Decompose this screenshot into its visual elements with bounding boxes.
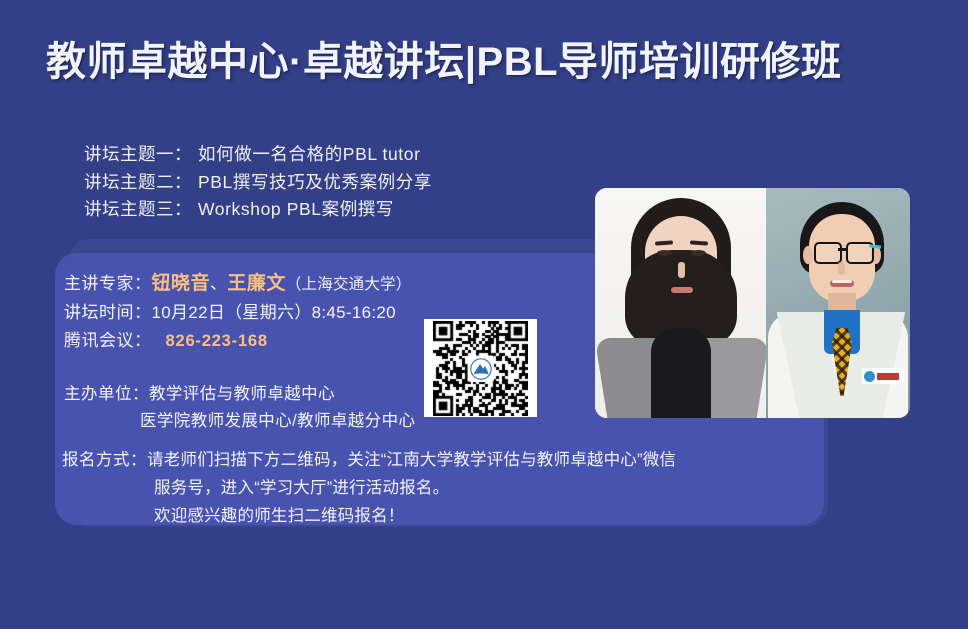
mouth-shape	[671, 287, 693, 293]
meeting-id: 826-223-168	[166, 332, 268, 350]
title-bar: 教师卓越中心·卓越讲坛|PBL导师培训研修班	[0, 33, 968, 93]
registration-block: 报名方式：请老师们扫描下方二维码，关注“江南大学教学评估与教师卓越中心”微信 服…	[62, 446, 822, 530]
nose-shape	[678, 262, 685, 278]
speaker-row: 主讲专家：钮晓音、王廉文（上海交通大学）	[64, 270, 584, 299]
ear-left	[803, 246, 813, 264]
topic-list: 讲坛主题一：如何做一名合格的PBL tutor 讲坛主题二：PBL撰写技巧及优秀…	[84, 141, 554, 224]
glasses-left-lens	[814, 242, 842, 264]
speaker-separator: 、	[210, 274, 227, 293]
registration-row-3: 欢迎感兴趣的师生扫二维码报名！	[62, 502, 822, 530]
registration-line-2: 服务号，进入“学习大厅”进行活动报名。	[154, 479, 449, 497]
eye-right	[691, 250, 706, 256]
speaker-photos	[595, 188, 910, 418]
time-label: 讲坛时间：	[64, 303, 152, 322]
organizer-line-1: 教学评估与教师卓越中心	[149, 385, 335, 403]
topic-text-3: Workshop PBL案例撰写	[198, 199, 394, 219]
list-item: 讲坛主题三：Workshop PBL案例撰写	[84, 196, 554, 224]
organizer-label: 主办单位：	[64, 385, 149, 403]
topic-label-1: 讲坛主题一：	[84, 144, 192, 164]
page-title: 教师卓越中心·卓越讲坛|PBL导师培训研修班	[46, 33, 842, 91]
organizer-line-2: 医学院教师发展中心/教师卓越分中心	[140, 412, 415, 430]
time-value: 10月22日（星期六）8:45-16:20	[152, 303, 396, 322]
speaker-label: 主讲专家：	[64, 274, 152, 293]
hospital-badge	[862, 368, 904, 384]
speaker-name-1: 钮晓音	[152, 273, 211, 294]
list-item: 讲坛主题一：如何做一名合格的PBL tutor	[84, 141, 554, 169]
meeting-label: 腾讯会议：	[64, 331, 152, 350]
teeth-shape	[832, 280, 852, 283]
registration-label: 报名方式：	[62, 451, 147, 469]
topic-text-2: PBL撰写技巧及优秀案例分享	[198, 172, 432, 192]
qr-code[interactable]	[424, 319, 537, 417]
topic-text-1: 如何做一名合格的PBL tutor	[198, 144, 421, 164]
badge-text	[877, 373, 899, 380]
list-item: 讲坛主题二：PBL撰写技巧及优秀案例分享	[84, 169, 554, 197]
glasses-bridge	[838, 248, 846, 251]
turtleneck-shape	[651, 328, 711, 418]
mountain-logo-icon	[468, 356, 494, 382]
portrait-photo-left	[595, 188, 766, 418]
registration-row-1: 报名方式：请老师们扫描下方二维码，关注“江南大学教学评估与教师卓越中心”微信	[62, 446, 822, 474]
registration-line-1: 请老师们扫描下方二维码，关注“江南大学教学评估与教师卓越中心”微信	[147, 451, 676, 469]
badge-logo-icon	[864, 371, 875, 382]
poster-root: 教师卓越中心·卓越讲坛|PBL导师培训研修班 讲坛主题一：如何做一名合格的PBL…	[0, 0, 968, 629]
nose-shape	[838, 262, 845, 275]
topic-label-3: 讲坛主题三：	[84, 199, 192, 219]
registration-line-3: 欢迎感兴趣的师生扫二维码报名！	[154, 507, 405, 525]
speaker-name-2: 王廉文	[227, 273, 286, 294]
topic-label-2: 讲坛主题二：	[84, 172, 192, 192]
portrait-photo-right	[766, 188, 910, 418]
registration-row-2: 服务号，进入“学习大厅”进行活动报名。	[62, 474, 822, 502]
eye-left	[657, 250, 672, 256]
speaker-affiliation: （上海交通大学）	[286, 276, 412, 293]
